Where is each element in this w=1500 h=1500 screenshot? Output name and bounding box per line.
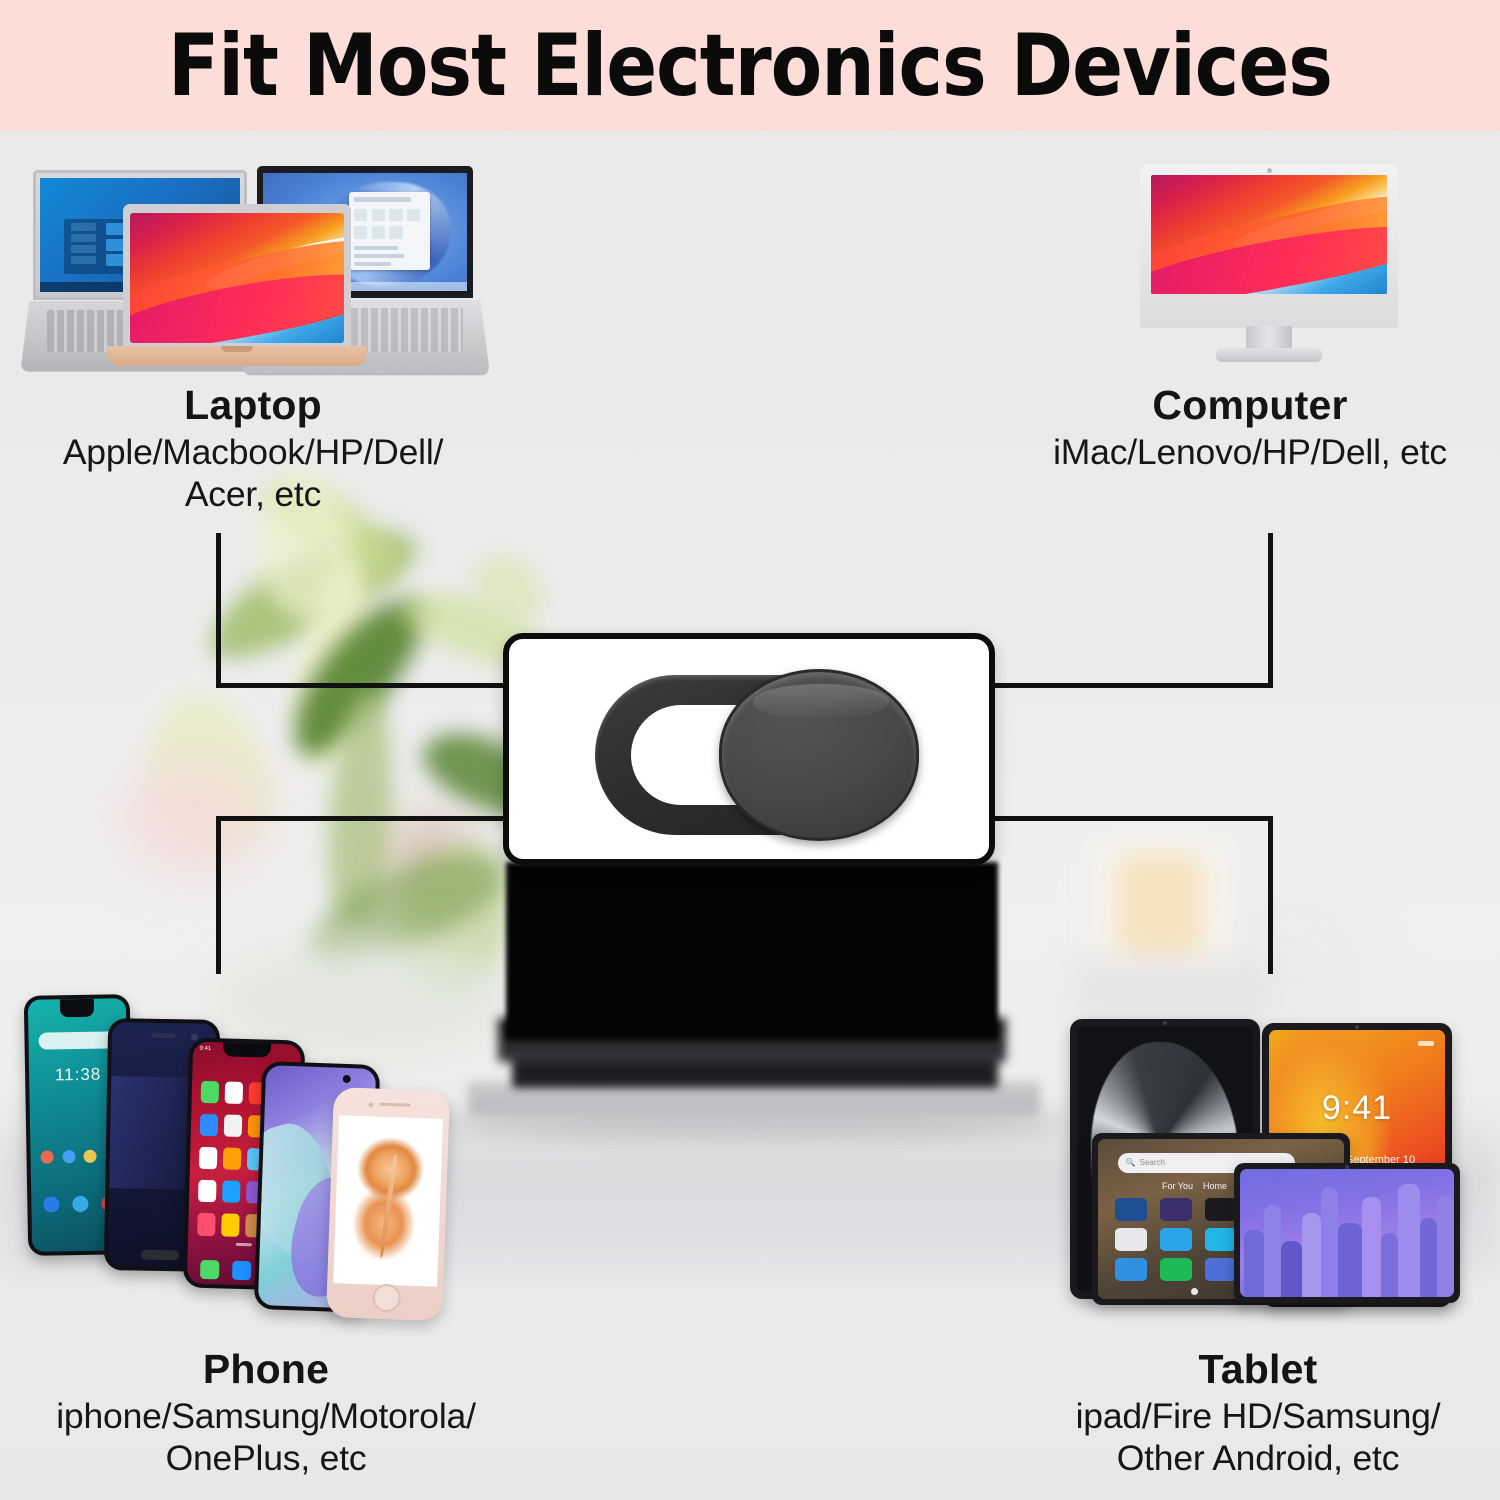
laptop-label-block: Laptop Apple/Macbook/HP/Dell/ Acer, etc xyxy=(22,384,484,516)
computer-label-subtitle-line1: iMac/Lenovo/HP/Dell, etc xyxy=(1010,432,1490,474)
connector-computer-horizontal xyxy=(990,683,1273,688)
background-candle-glow xyxy=(1118,855,1202,961)
connector-laptop-vertical xyxy=(216,533,221,688)
laptop-label-title: Laptop xyxy=(22,384,484,427)
phone-label-block: Phone iphone/Samsung/Motorola/ OnePlus, … xyxy=(8,1348,524,1480)
connector-phone-vertical xyxy=(216,816,221,974)
samsung-tab-a7-camera-icon xyxy=(1345,1165,1349,1169)
iphone-11-page-dots xyxy=(235,1243,251,1246)
phone-label-subtitle-line2: OnePlus, etc xyxy=(8,1438,524,1480)
tablet-device-group: 9:41 Tuesday, September 10 🔍 Search For … xyxy=(1062,1005,1500,1335)
samsung-s21-punch-hole-camera-icon xyxy=(343,1075,351,1083)
tablet-label-subtitle-line2: Other Android, etc xyxy=(1016,1438,1500,1480)
samsung-tab-a7-tablet xyxy=(1234,1163,1460,1303)
laptop-label-subtitle-line2: Acer, etc xyxy=(22,474,484,516)
ipad-air-camera-icon xyxy=(1163,1021,1167,1025)
imac-desktop xyxy=(1140,164,1398,328)
ipad-camera-icon xyxy=(1355,1025,1359,1029)
ipad-lock-time: 9:41 xyxy=(1269,1089,1445,1128)
macbook-air-laptop xyxy=(123,204,351,352)
phone-label-title: Phone xyxy=(8,1348,524,1391)
connector-phone-horizontal xyxy=(216,816,508,821)
iphone-6s-earpiece xyxy=(380,1102,410,1107)
search-icon: 🔍 xyxy=(1126,1158,1136,1167)
samsung-home-button xyxy=(141,1250,179,1260)
samsung-tab-a7-screen xyxy=(1240,1169,1454,1297)
ipad-status-battery xyxy=(1418,1041,1434,1046)
tab-for-you[interactable]: For You xyxy=(1162,1181,1193,1191)
page-title: Fit Most Electronics Devices xyxy=(168,16,1332,116)
laptop-label-subtitle-line1: Apple/Macbook/HP/Dell/ xyxy=(22,432,484,474)
webcam-cover-slider-knob[interactable] xyxy=(719,669,919,841)
samsung-earpiece xyxy=(151,1033,176,1039)
fire-hd-search-placeholder: Search xyxy=(1140,1158,1165,1167)
webcam-cover-product[interactable] xyxy=(503,633,995,865)
macbook-notch xyxy=(221,346,253,352)
iphone-6s-rose-gold-phone xyxy=(326,1087,450,1321)
samsung-front-camera-icon xyxy=(191,1033,198,1040)
iphone-6s-screen xyxy=(333,1115,443,1287)
tablet-label-title: Tablet xyxy=(1016,1348,1500,1391)
motorola-notch xyxy=(60,999,94,1017)
header-banner: Fit Most Electronics Devices xyxy=(0,0,1500,131)
tablet-label-block: Tablet ipad/Fire HD/Samsung/ Other Andro… xyxy=(1016,1348,1500,1480)
host-laptop-screen xyxy=(506,862,998,1040)
motorola-search-pill xyxy=(38,1031,117,1050)
computer-label-block: Computer iMac/Lenovo/HP/Dell, etc xyxy=(1010,384,1490,474)
computer-label-title: Computer xyxy=(1010,384,1490,427)
phone-device-group: 11:38 xyxy=(18,985,468,1330)
iphone-6s-front-camera-icon xyxy=(368,1102,373,1107)
iphone-11-status-time: 9:41 xyxy=(199,1045,211,1051)
computer-device-group xyxy=(1120,162,1420,372)
imac-stand-foot xyxy=(1216,348,1322,362)
tablet-label-subtitle-line1: ipad/Fire HD/Samsung/ xyxy=(1016,1396,1500,1438)
connector-tablet-vertical xyxy=(1268,816,1273,974)
tab-home[interactable]: Home xyxy=(1203,1181,1227,1191)
connector-computer-vertical xyxy=(1268,533,1273,688)
iphone-6s-home-button xyxy=(372,1284,401,1313)
samsung-tab-a7-wallpaper xyxy=(1240,1169,1454,1297)
infographic-canvas: Fit Most Electronics Devices xyxy=(0,0,1500,1500)
macbook-screen xyxy=(130,213,344,343)
connector-tablet-horizontal xyxy=(990,816,1273,821)
connector-laptop-horizontal xyxy=(216,683,508,688)
laptop-device-group xyxy=(25,160,485,392)
imac-screen xyxy=(1151,175,1387,294)
knob-gloss-highlight xyxy=(753,684,889,721)
iphone-11-notch xyxy=(223,1042,271,1057)
phone-label-subtitle-line1: iphone/Samsung/Motorola/ xyxy=(8,1396,524,1438)
imac-camera-icon xyxy=(1267,168,1272,173)
windows-11-settings-window xyxy=(349,192,431,270)
